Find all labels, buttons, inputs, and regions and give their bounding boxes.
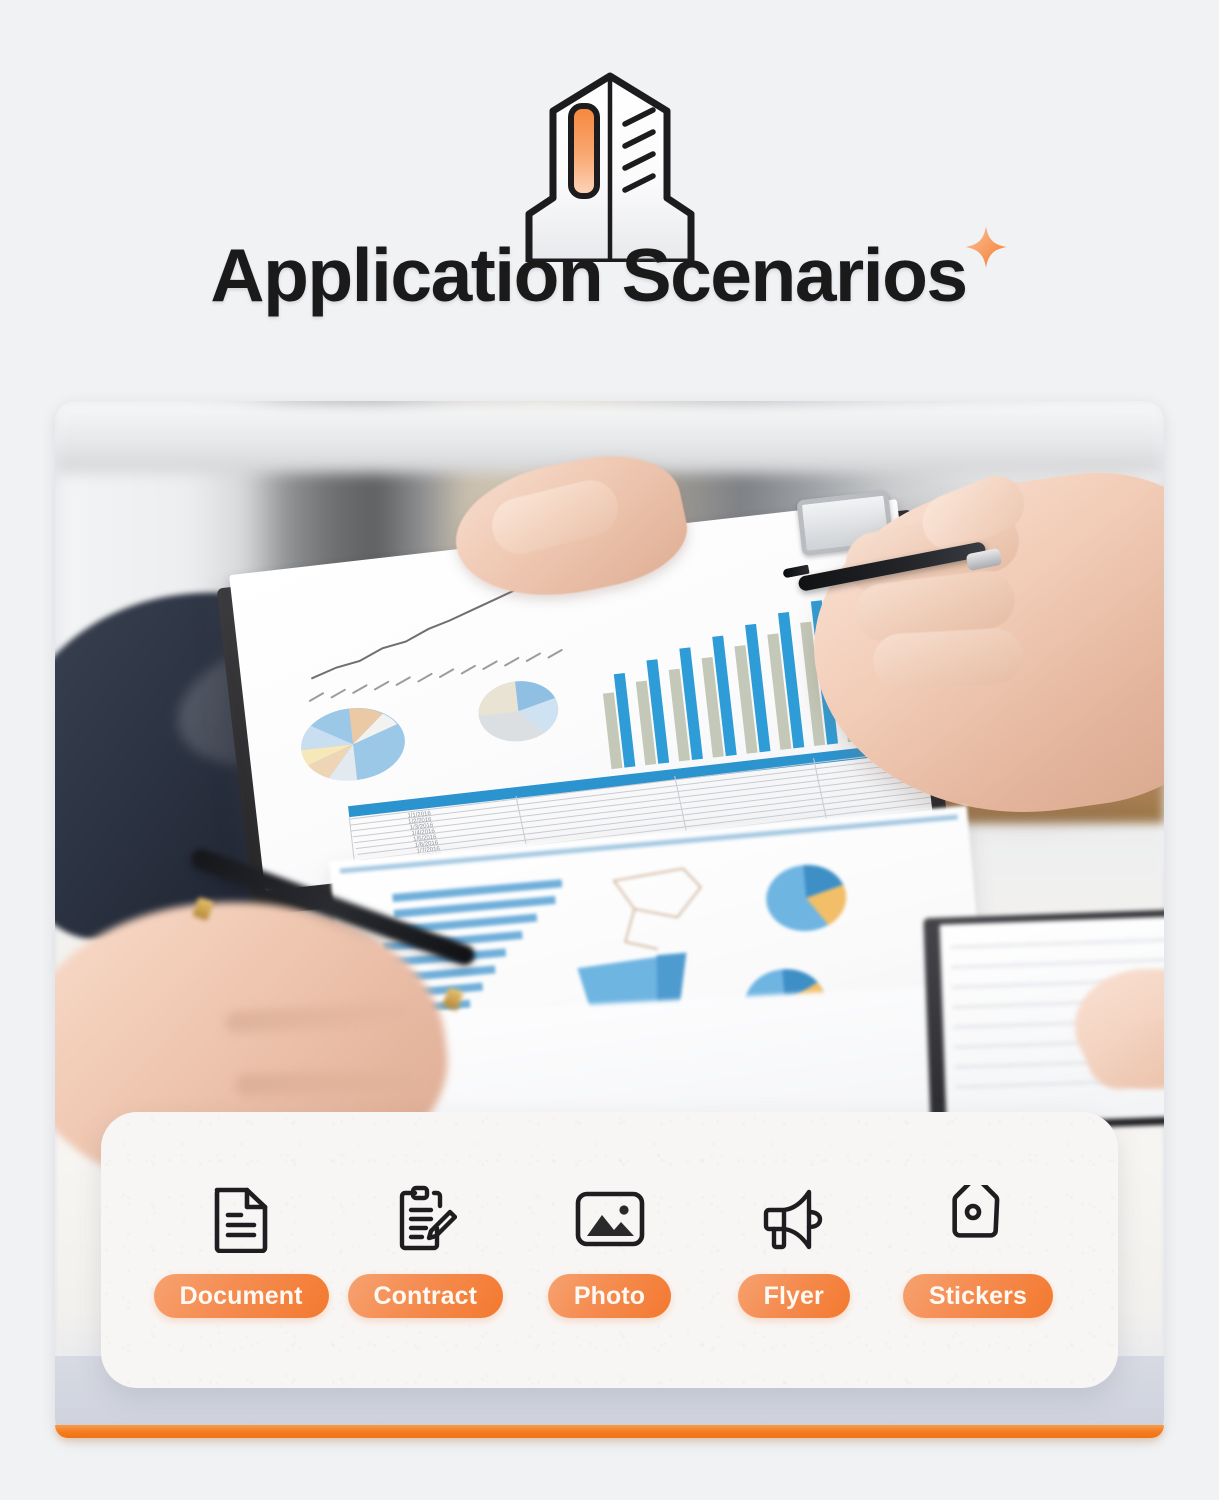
knuckle-crease bbox=[235, 1071, 415, 1096]
clipboard-pencil-icon bbox=[393, 1182, 457, 1256]
finger bbox=[872, 627, 1025, 691]
orange-accent-bar bbox=[55, 1425, 1164, 1438]
megaphone-icon bbox=[757, 1182, 831, 1256]
building-logo-icon bbox=[495, 62, 725, 262]
scenario-label-flyer: Flyer bbox=[738, 1274, 850, 1318]
price-tag-icon bbox=[943, 1182, 1013, 1256]
sparkle-icon bbox=[963, 224, 1009, 270]
scenario-item-flyer[interactable]: Flyer bbox=[702, 1182, 886, 1318]
page-title: Application Scenarios bbox=[210, 238, 966, 313]
page-title-row: Application Scenarios bbox=[0, 238, 1219, 313]
image-icon bbox=[574, 1182, 646, 1256]
document-icon bbox=[211, 1182, 271, 1256]
scenario-label-document: Document bbox=[154, 1274, 329, 1318]
scenario-item-photo[interactable]: Photo bbox=[517, 1182, 701, 1318]
scenario-item-stickers[interactable]: Stickers bbox=[886, 1182, 1070, 1318]
page-root: Application Scenarios bbox=[0, 0, 1219, 1500]
scenario-label-stickers: Stickers bbox=[903, 1274, 1053, 1318]
scenarios-card: Document Contract bbox=[101, 1112, 1118, 1388]
scenario-item-document[interactable]: Document bbox=[149, 1182, 333, 1318]
page-header: Application Scenarios bbox=[0, 0, 1219, 392]
scenario-label-contract: Contract bbox=[348, 1274, 504, 1318]
scenario-item-contract[interactable]: Contract bbox=[333, 1182, 517, 1318]
scenario-label-photo: Photo bbox=[548, 1274, 671, 1318]
scenarios-list: Document Contract bbox=[101, 1112, 1118, 1388]
